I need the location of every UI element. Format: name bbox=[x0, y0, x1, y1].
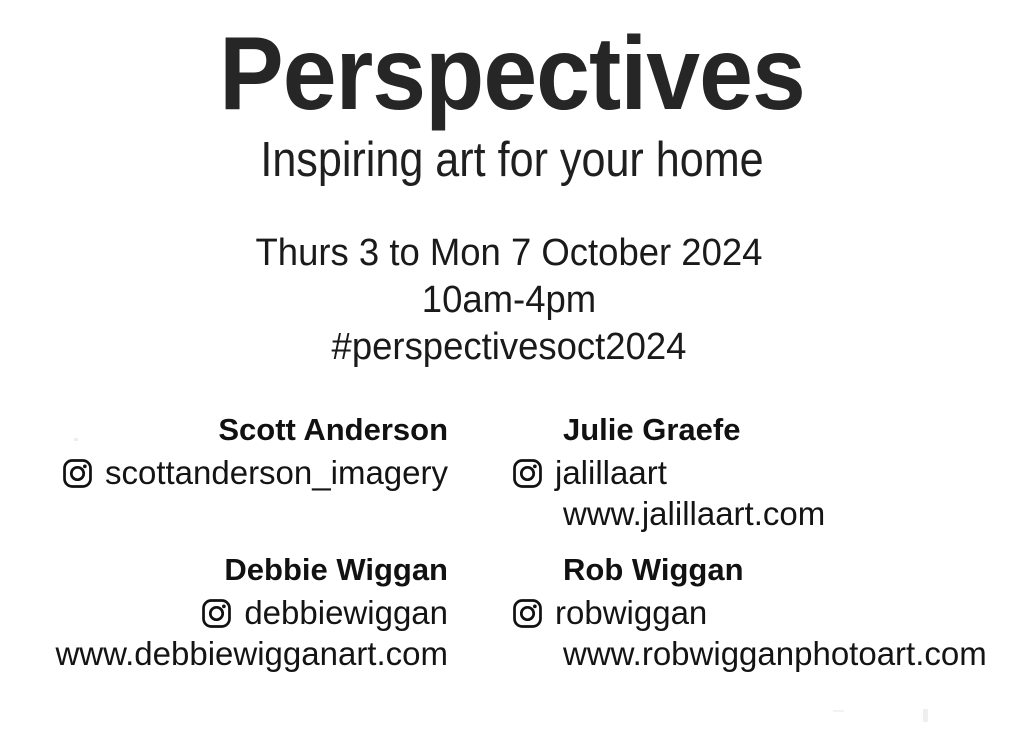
artist-website[interactable]: www.debbiewigganart.com bbox=[8, 634, 448, 674]
event-hashtag: #perspectivesoct2024 bbox=[20, 324, 997, 371]
event-hours: 10am-4pm bbox=[20, 277, 997, 324]
artist-social-row: scottanderson_imagery bbox=[8, 453, 448, 493]
instagram-icon[interactable] bbox=[512, 598, 543, 629]
artist-card-scott-anderson: Scott Anderson scottanderson_imagery bbox=[8, 412, 448, 493]
artist-instagram-handle[interactable]: robwiggan bbox=[555, 595, 707, 631]
instagram-icon[interactable] bbox=[201, 598, 232, 629]
artist-name: Julie Graefe bbox=[512, 412, 952, 448]
artist-website[interactable]: www.robwigganphotoart.com bbox=[512, 634, 952, 674]
artist-instagram-handle[interactable]: debbiewiggan bbox=[244, 595, 448, 631]
artist-website[interactable]: www.jalillaart.com bbox=[512, 494, 952, 534]
artist-name: Debbie Wiggan bbox=[8, 552, 448, 588]
event-dates: Thurs 3 to Mon 7 October 2024 bbox=[20, 230, 997, 277]
scan-artifact bbox=[923, 709, 928, 722]
event-details: Thurs 3 to Mon 7 October 2024 10am-4pm #… bbox=[0, 230, 1024, 371]
artist-social-row: jalillaart bbox=[512, 453, 952, 493]
artist-name: Scott Anderson bbox=[8, 412, 448, 448]
scan-artifact bbox=[74, 438, 78, 441]
artist-card-julie-graefe: Julie Graefe jalillaart www.jalillaart.c… bbox=[512, 412, 952, 534]
artist-social-row: debbiewiggan bbox=[8, 593, 448, 633]
scan-artifact bbox=[833, 710, 844, 712]
artist-card-debbie-wiggan: Debbie Wiggan debbiewiggan www.debbiewig… bbox=[8, 552, 448, 674]
artist-instagram-handle[interactable]: scottanderson_imagery bbox=[105, 455, 448, 491]
page-subtitle: Inspiring art for your home bbox=[61, 136, 962, 185]
instagram-icon[interactable] bbox=[62, 458, 93, 489]
page-title: Perspectives bbox=[36, 22, 988, 126]
instagram-icon[interactable] bbox=[512, 458, 543, 489]
poster-header: Perspectives Inspiring art for your home bbox=[0, 22, 1024, 185]
artist-instagram-handle[interactable]: jalillaart bbox=[555, 455, 667, 491]
artist-list: Scott Anderson scottanderson_imagery Jul… bbox=[0, 412, 1024, 702]
artist-card-rob-wiggan: Rob Wiggan robwiggan www.robwigganphotoa… bbox=[512, 552, 952, 674]
artist-name: Rob Wiggan bbox=[512, 552, 952, 588]
exhibition-flyer: Perspectives Inspiring art for your home… bbox=[0, 0, 1024, 746]
artist-social-row: robwiggan bbox=[512, 593, 952, 633]
